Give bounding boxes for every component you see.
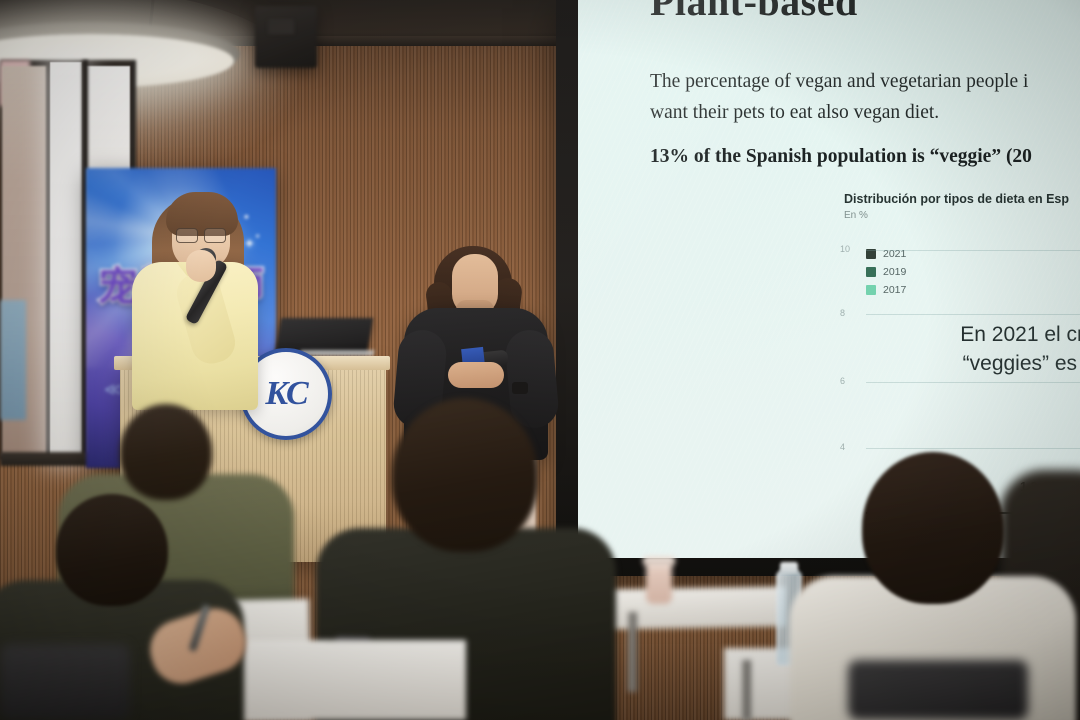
chair-back (0, 644, 130, 720)
chart-ytick: 6 (840, 376, 845, 386)
chart-gridline (866, 382, 1080, 383)
speaker-grill-icon (268, 20, 294, 34)
speaker1-glasses (176, 228, 226, 241)
audience-member-front-left-head (56, 494, 168, 606)
chart-title: Distribución por tipos de dieta en Esp (844, 192, 1069, 206)
slide-callout-line-2: “veggies” es c (928, 349, 1080, 378)
slide-title: Plant-based (650, 0, 858, 25)
projection-screen: Plant-based The percentage of vegan and … (578, 0, 1080, 558)
chart-ytick: 10 (840, 244, 850, 254)
podium-logo-text: KC (265, 375, 306, 413)
audience-member-olive-head (120, 404, 212, 500)
slide-body-text: The percentage of vegan and vegetarian p… (650, 66, 1080, 128)
slide-callout: En 2021 el cre “veggies” es c (928, 320, 1080, 378)
audience-table-front-center (236, 640, 466, 720)
speaker1-hand (186, 250, 216, 282)
legend-label-2019: 2019 (883, 266, 906, 278)
legend-swatch-2017 (866, 285, 876, 295)
chart-gridline (866, 448, 1080, 449)
chart-unit-label: En % (844, 210, 868, 221)
audience-table-mid (596, 586, 787, 629)
audience-member-center-head (392, 398, 538, 552)
speaker2-hands (448, 362, 504, 388)
slide-statistic-line: 13% of the Spanish population is “veggie… (650, 146, 1032, 168)
table-leg (628, 612, 637, 692)
slide-callout-line-1: En 2021 el cre (928, 320, 1080, 349)
chart-ytick: 4 (840, 442, 845, 452)
slide-body-line-1: The percentage of vegan and vegetarian p… (650, 66, 1080, 97)
audience-member-white-shirt-head (862, 452, 1004, 604)
window-exterior-lower (0, 300, 26, 420)
chair-back (848, 660, 1028, 720)
legend-item-2019: 2019 (866, 264, 906, 279)
paw-print-icon-2: ✦ (244, 236, 255, 252)
table-leg (742, 660, 751, 720)
legend-label-2017: 2017 (883, 284, 906, 296)
legend-swatch-2019 (866, 267, 876, 277)
photo-scene: ✦ ✦ 宠物 师 全国 ≪≪ Plant-based The percentag… (0, 0, 1080, 720)
speaker2-wristwatch (512, 382, 528, 394)
slide-body-line-2: want their pets to eat also vegan diet. (650, 97, 1080, 128)
chart-legend: 2021 2019 2017 (866, 246, 906, 300)
coffee-cup-lid (643, 556, 675, 565)
legend-item-2017: 2017 (866, 282, 906, 297)
chart-gridline (866, 314, 1080, 315)
window-pane-center (50, 62, 82, 458)
water-bottle-cap (780, 562, 798, 574)
chart-ytick: 8 (840, 308, 845, 318)
speaker2-sleeve-right (504, 328, 560, 430)
legend-item-2021: 2021 (866, 246, 906, 261)
chart-gridline (866, 250, 1080, 251)
ceiling-speaker (255, 6, 317, 68)
coffee-cup (646, 560, 672, 604)
